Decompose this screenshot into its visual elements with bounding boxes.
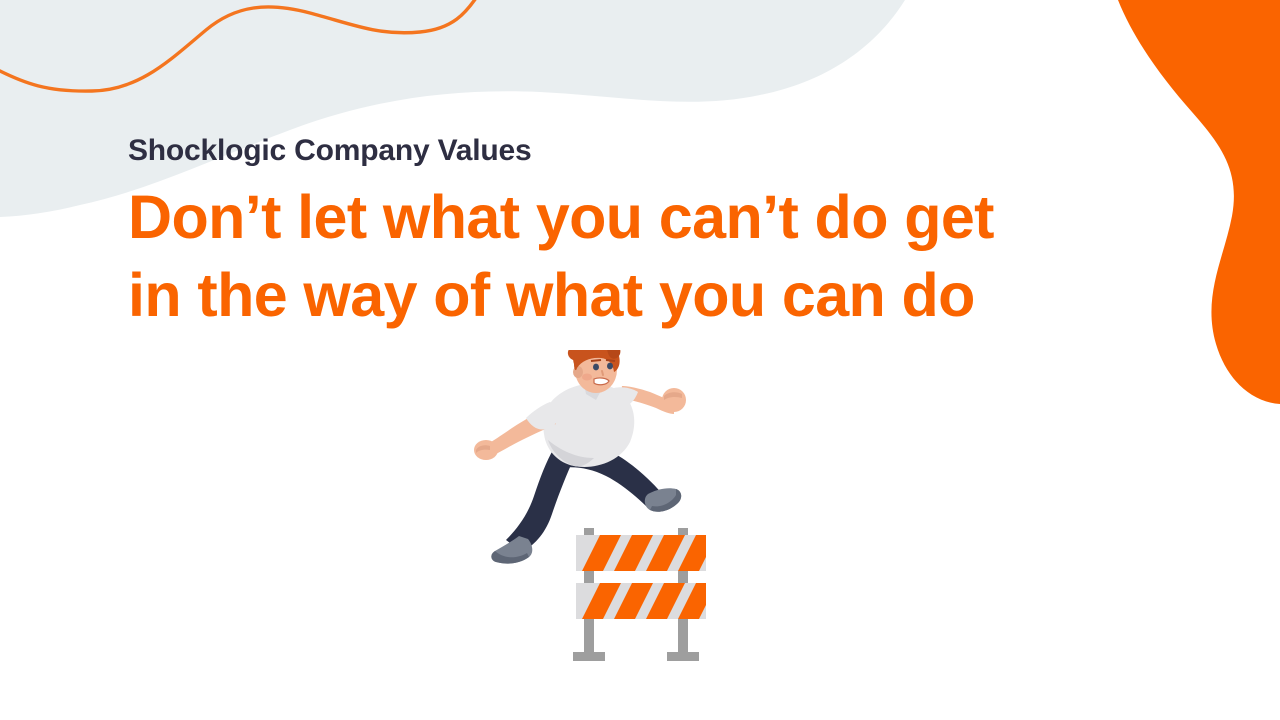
barrier-board-bottom	[576, 583, 717, 619]
mouth	[594, 378, 609, 385]
eyebrow-right	[606, 360, 615, 361]
barrier-board-top	[576, 535, 717, 571]
front-fist	[662, 388, 686, 412]
running-man-figure	[474, 350, 686, 564]
barrier-foot-right	[667, 652, 699, 661]
slide-canvas: Shocklogic Company Values Don’t let what…	[0, 0, 1280, 720]
cheek-blush	[582, 374, 592, 381]
eye-right	[607, 363, 613, 370]
construction-barrier	[573, 528, 717, 661]
barrier-foot-left	[573, 652, 605, 661]
nose	[602, 371, 603, 375]
eyebrow-left	[591, 360, 601, 361]
page-title: Don’t let what you can’t do get in the w…	[128, 178, 1128, 334]
man-jumping-over-barrier-illustration	[470, 350, 730, 680]
headline-text-block: Shocklogic Company Values Don’t let what…	[128, 133, 1128, 335]
headline-line-2: in the way of what you can do	[128, 256, 1128, 334]
orange-side-blob-shape	[1118, 0, 1280, 404]
eyebrow-title: Shocklogic Company Values	[128, 133, 1128, 168]
front-sleeve	[611, 387, 638, 406]
eye-left	[593, 364, 599, 371]
orange-curve-line-shape	[0, 0, 480, 91]
headline-line-1: Don’t let what you can’t do get	[128, 178, 1128, 256]
